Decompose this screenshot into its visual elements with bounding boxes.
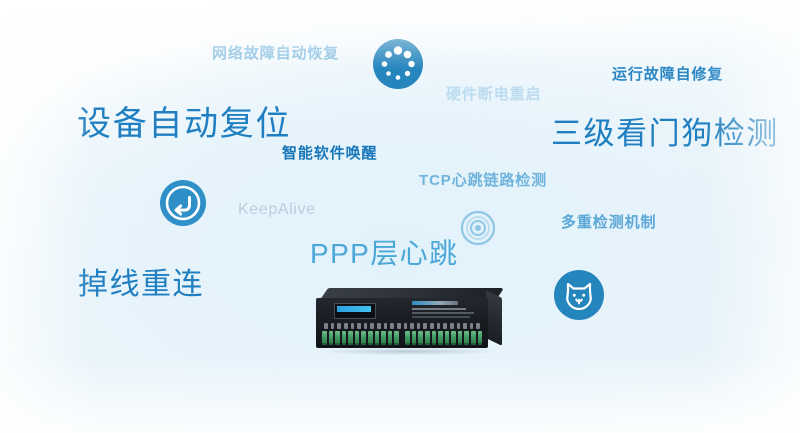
device-label-line-2 [412,312,474,314]
device-led-row [324,323,480,329]
headline-device-auto-reset: 设备自动复位 [77,107,291,141]
label-hardware-power-cycle-restart: 硬件断电重启 [446,87,541,102]
reset-refresh-icon [160,180,206,226]
label-multi-detection-mechanism: 多重检测机制 [561,215,656,230]
device-label-line-1 [412,308,466,310]
label-keepalive: KeepAlive [238,202,316,218]
feature-banner: 网络故障自动恢复 硬件断电重启 运行故障自修复 智能软件唤醒 TCP心跳链路检测… [0,0,800,433]
device-label-line-3 [412,316,470,318]
device-side-panel [486,290,502,346]
radar-target-icon [461,211,495,245]
device-brand-logo [412,301,458,305]
device-shadow [320,348,498,355]
industrial-io-gateway [316,288,504,356]
device-front-panel [316,298,488,348]
label-smart-software-wakeup: 智能软件唤醒 [282,146,377,161]
watchdog-face-icon [554,270,604,320]
label-runtime-fault-self-repair: 运行故障自修复 [612,67,723,82]
headline-reconnect-on-drop: 掉线重连 [78,270,204,300]
device-display [334,303,376,319]
device-terminal-blocks [322,331,482,345]
headline-triple-watchdog: 三级看门狗检测 [551,118,779,149]
label-network-fault-auto-recovery: 网络故障自动恢复 [212,46,339,61]
label-tcp-heartbeat-link-check: TCP心跳链路检测 [419,173,547,188]
headline-ppp-layer-heartbeat: PPP层心跳 [310,240,458,268]
loading-spinner-icon [373,39,423,89]
